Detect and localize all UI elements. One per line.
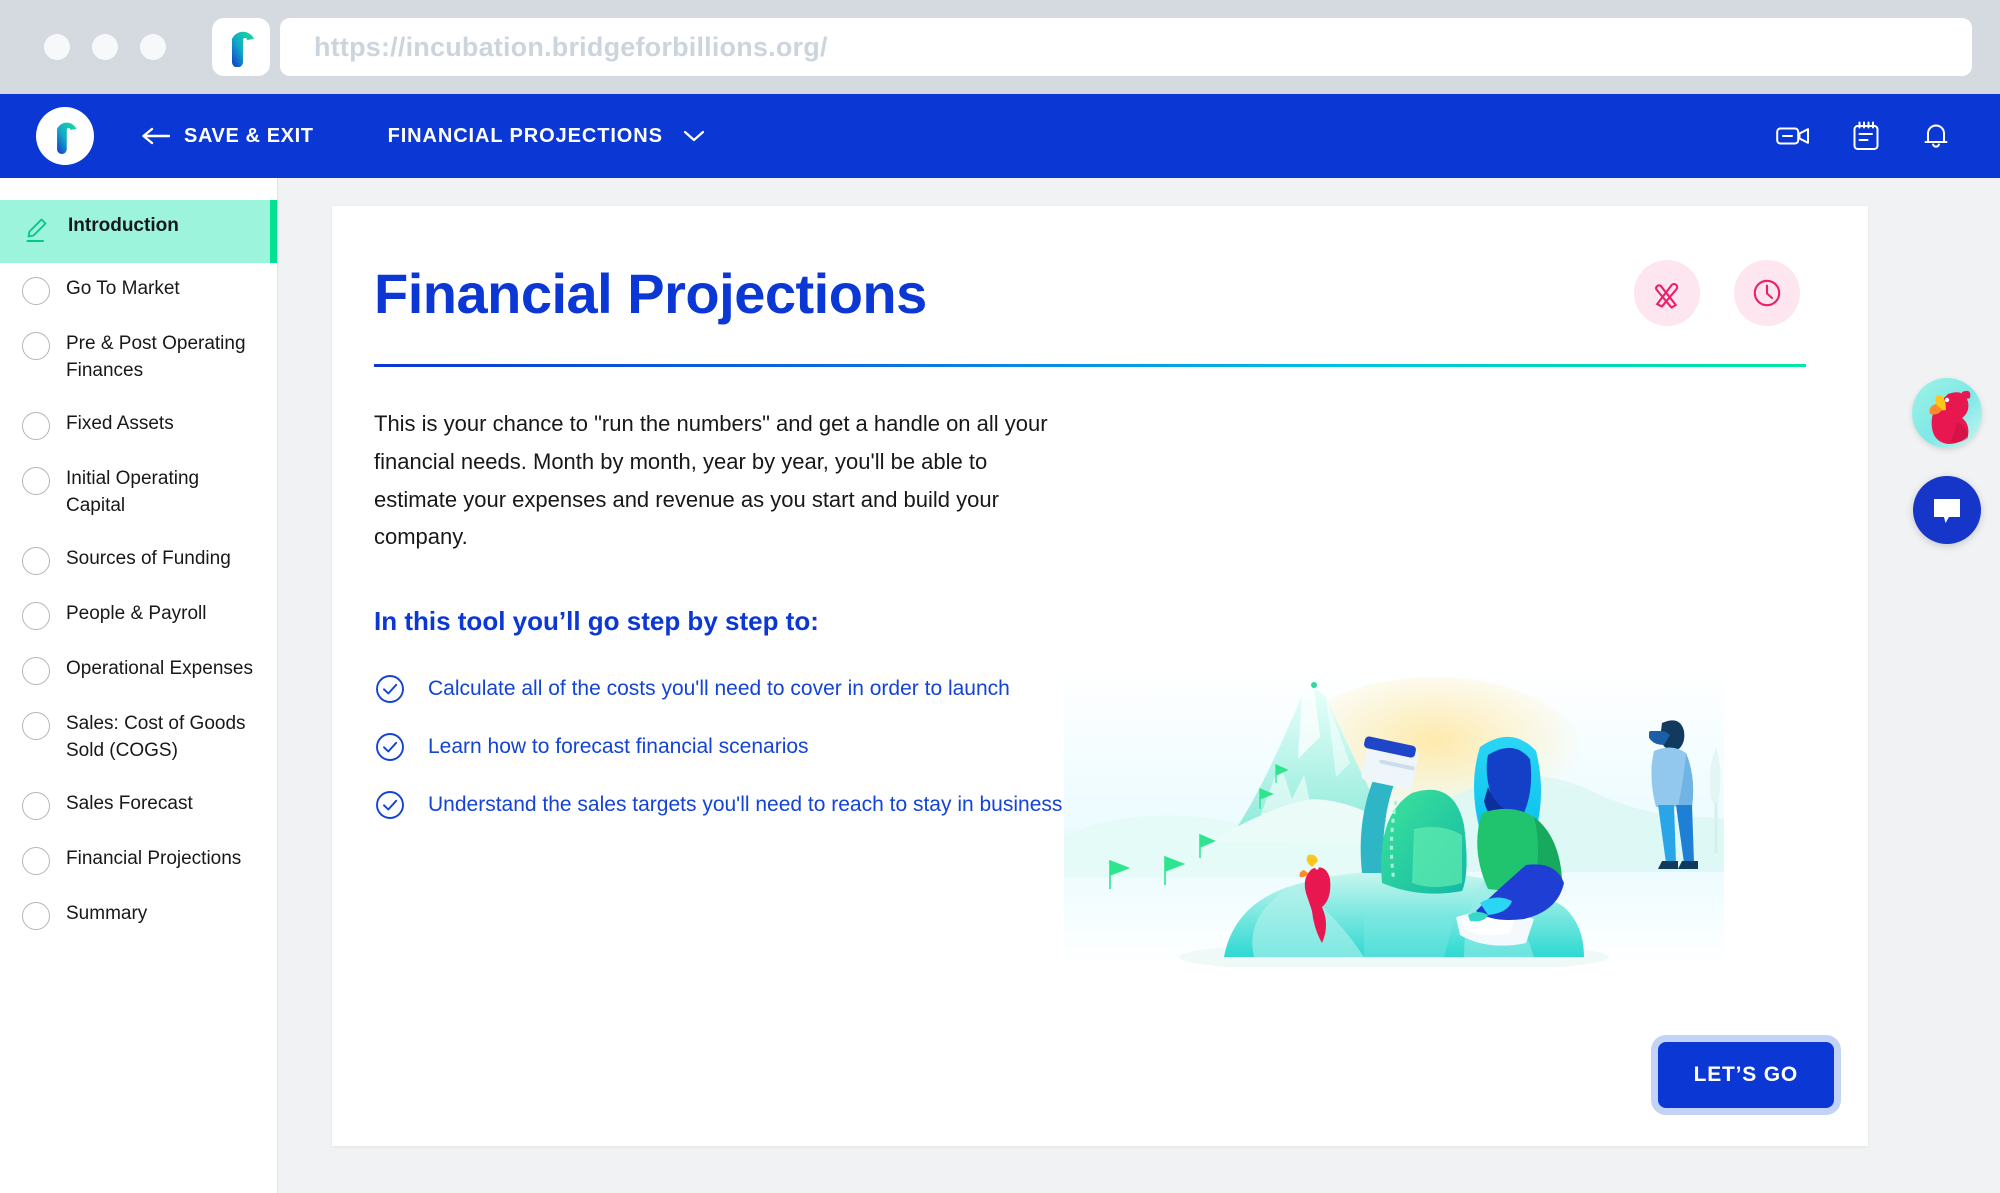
bell-icon[interactable] (1922, 121, 1950, 151)
status-circle-icon (22, 547, 50, 575)
status-circle-icon (22, 277, 50, 305)
notepad-icon[interactable] (1852, 121, 1880, 151)
chat-bubble-icon[interactable] (1913, 476, 1981, 544)
sidebar-item-pre-post-operating-finances[interactable]: Pre & Post Operating Finances (0, 318, 277, 398)
url-text: https://incubation.bridgeforbillions.org… (314, 32, 828, 63)
sidebar-item-summary[interactable]: Summary (0, 888, 277, 943)
status-circle-icon (22, 657, 50, 685)
sidebar-item-sources-of-funding[interactable]: Sources of Funding (0, 533, 277, 588)
sidebar-item-label: Fixed Assets (66, 411, 174, 438)
card-header: Financial Projections (374, 260, 1806, 326)
content-card: Financial Projections (332, 206, 1868, 1146)
sidebar-item-introduction[interactable]: Introduction (0, 200, 277, 263)
check-circle-icon (374, 673, 406, 705)
sidebar-item-sales-cost-of-goods-sold[interactable]: Sales: Cost of Goods Sold (COGS) (0, 698, 277, 778)
sidebar-item-label: Initial Operating Capital (66, 466, 256, 520)
sidebar-navigation: Introduction Go To Market Pre & Post Ope… (0, 178, 278, 1193)
status-circle-icon (22, 467, 50, 495)
sidebar-item-people-and-payroll[interactable]: People & Payroll (0, 588, 277, 643)
tools-icon[interactable] (1634, 260, 1700, 326)
list-item-label: Learn how to forecast financial scenario… (428, 735, 809, 759)
sidebar-item-operational-expenses[interactable]: Operational Expenses (0, 643, 277, 698)
sidebar-item-label: Financial Projections (66, 846, 241, 873)
floating-widgets (1912, 378, 1982, 544)
chevron-down-icon (683, 129, 705, 143)
address-bar[interactable]: https://incubation.bridgeforbillions.org… (280, 18, 1972, 76)
list-item: Calculate all of the costs you'll need t… (374, 673, 1134, 705)
window-traffic-lights (44, 34, 166, 60)
sidebar-item-financial-projections[interactable]: Financial Projections (0, 833, 277, 888)
benefits-checklist: Calculate all of the costs you'll need t… (374, 673, 1134, 821)
list-item-label: Calculate all of the costs you'll need t… (428, 677, 1010, 701)
status-circle-icon (22, 792, 50, 820)
save-and-exit-button[interactable]: SAVE & EXIT (140, 125, 314, 148)
save-and-exit-label: SAVE & EXIT (184, 125, 314, 148)
intro-paragraph: This is your chance to "run the numbers"… (374, 405, 1064, 556)
maximize-dot[interactable] (140, 34, 166, 60)
sidebar-item-label: Operational Expenses (66, 656, 253, 683)
page-body: Introduction Go To Market Pre & Post Ope… (0, 178, 2000, 1193)
clock-icon[interactable] (1734, 260, 1800, 326)
sidebar-item-label: Introduction (68, 213, 179, 240)
browser-chrome: https://incubation.bridgeforbillions.org… (0, 0, 2000, 94)
status-circle-icon (22, 412, 50, 440)
sub-heading: In this tool you’ll go step by step to: (374, 606, 1134, 637)
sidebar-item-fixed-assets[interactable]: Fixed Assets (0, 398, 277, 453)
sidebar-item-go-to-market[interactable]: Go To Market (0, 263, 277, 318)
favicon (212, 18, 270, 76)
minimize-dot[interactable] (92, 34, 118, 60)
arrow-left-icon (140, 126, 170, 146)
sidebar-item-sales-forecast[interactable]: Sales Forecast (0, 778, 277, 833)
app-header: SAVE & EXIT FINANCIAL PROJECTIONS (0, 94, 2000, 178)
bridge-logo-icon (50, 117, 80, 155)
mountain-explorers-illustration (1064, 667, 1724, 972)
tool-selector[interactable]: FINANCIAL PROJECTIONS (388, 125, 705, 148)
card-text-column: This is your chance to "run the numbers"… (374, 367, 1134, 821)
card-illustration-column (1134, 367, 1806, 821)
sidebar-item-label: Sources of Funding (66, 546, 231, 573)
list-item: Learn how to forecast financial scenario… (374, 731, 1134, 763)
status-circle-icon (22, 712, 50, 740)
bridge-logo-icon (224, 27, 258, 67)
status-circle-icon (22, 602, 50, 630)
sidebar-item-label: Pre & Post Operating Finances (66, 331, 256, 385)
sidebar-item-label: Sales: Cost of Goods Sold (COGS) (66, 711, 256, 765)
app-logo[interactable] (36, 107, 94, 165)
tool-selector-label: FINANCIAL PROJECTIONS (388, 125, 663, 148)
status-circle-icon (22, 902, 50, 930)
page-title: Financial Projections (374, 261, 927, 326)
parrot-avatar[interactable] (1912, 378, 1982, 448)
list-item-label: Understand the sales targets you'll need… (428, 793, 1062, 817)
status-circle-icon (22, 332, 50, 360)
check-circle-icon (374, 789, 406, 821)
card-header-actions (1634, 260, 1800, 326)
status-circle-icon (22, 847, 50, 875)
sidebar-item-label: Sales Forecast (66, 791, 193, 818)
lets-go-button[interactable]: LET’S GO (1658, 1042, 1834, 1108)
close-dot[interactable] (44, 34, 70, 60)
sidebar-item-label: People & Payroll (66, 601, 206, 628)
header-actions (1776, 121, 1964, 151)
list-item: Understand the sales targets you'll need… (374, 789, 1134, 821)
sidebar-item-label: Summary (66, 901, 147, 928)
sidebar-item-label: Go To Market (66, 276, 180, 303)
sidebar-item-initial-operating-capital[interactable]: Initial Operating Capital (0, 453, 277, 533)
pencil-icon (22, 215, 52, 250)
check-circle-icon (374, 731, 406, 763)
video-camera-icon[interactable] (1776, 124, 1810, 148)
